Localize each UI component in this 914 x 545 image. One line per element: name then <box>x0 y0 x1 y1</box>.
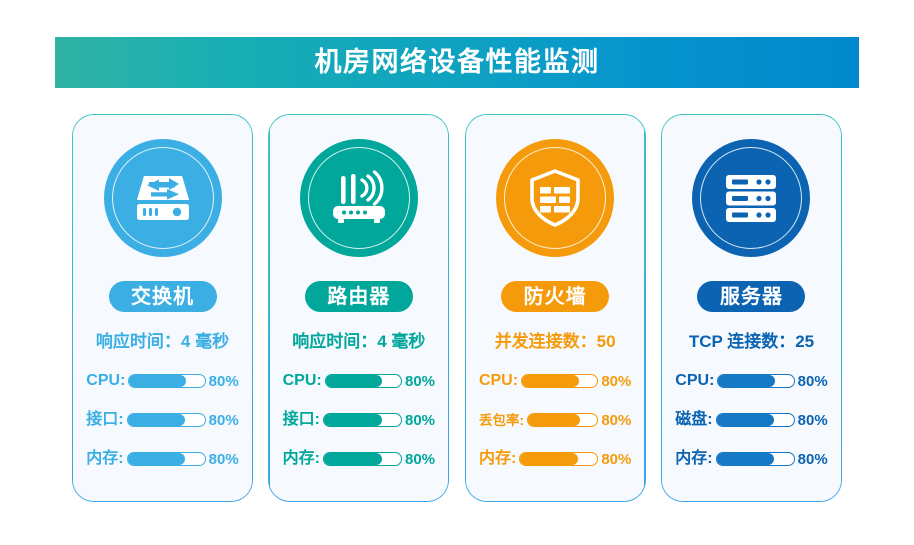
metric-label: 内存: <box>283 451 320 467</box>
metric-label: 接口: <box>283 412 320 428</box>
metric-row: 内存: 80% <box>86 448 238 470</box>
primary-stat: 响应时间：4 毫秒 <box>73 333 251 350</box>
metric-label: CPU: <box>283 373 322 389</box>
metric-progress-fill <box>128 453 186 465</box>
device-name-label: 路由器 <box>327 287 390 307</box>
metric-progress-bar <box>716 452 795 466</box>
metric-progress-fill <box>718 375 774 387</box>
metric-progress-bar <box>527 413 598 427</box>
metric-row: CPU: 80% <box>675 370 827 392</box>
metric-label: CPU: <box>675 373 714 389</box>
metric-progress-bar <box>716 413 795 427</box>
metric-label: CPU: <box>86 373 125 389</box>
metric-value: 80% <box>405 452 435 467</box>
metric-progress-fill <box>528 414 580 426</box>
metric-value: 80% <box>601 413 631 428</box>
metric-label: 接口: <box>86 412 123 428</box>
metric-value: 80% <box>209 374 239 389</box>
metric-progress-bar <box>323 452 402 466</box>
metric-value: 80% <box>798 413 828 428</box>
icon-badge <box>104 139 222 257</box>
device-card-list: 交换机 响应时间：4 毫秒 CPU: 80% 接口: 80% 内存 <box>72 114 842 502</box>
metric-row: 内存: 80% <box>479 448 631 470</box>
metric-progress-fill <box>326 375 382 387</box>
metric-row: 磁盘: 80% <box>675 409 827 431</box>
metric-row: 内存: 80% <box>283 448 435 470</box>
metric-row: CPU: 80% <box>86 370 238 392</box>
metric-progress-bar <box>521 374 598 388</box>
metric-progress-fill <box>324 414 382 426</box>
metric-list: CPU: 80% 丢包率: 80% 内存: 80% <box>479 370 631 470</box>
metric-label: 内存: <box>86 451 123 467</box>
metric-progress-fill <box>717 453 775 465</box>
device-name-label: 防火墙 <box>524 287 587 307</box>
metric-progress-bar <box>127 452 206 466</box>
metric-value: 80% <box>601 452 631 467</box>
metric-label: 内存: <box>479 451 516 467</box>
metric-value: 80% <box>601 374 631 389</box>
metric-list: CPU: 80% 磁盘: 80% 内存: 80% <box>675 370 827 470</box>
metric-row: CPU: 80% <box>479 370 631 392</box>
metric-progress-bar <box>717 374 794 388</box>
metric-progress-fill <box>129 375 185 387</box>
wifi-router-icon <box>327 166 391 230</box>
metric-value: 80% <box>405 413 435 428</box>
server-rack-icon <box>719 166 783 230</box>
shield-firewall-icon <box>523 166 587 230</box>
metric-progress-fill <box>324 453 382 465</box>
metric-label: 磁盘: <box>675 412 712 428</box>
metric-progress-bar <box>323 413 402 427</box>
metric-progress-bar <box>325 374 402 388</box>
infographic-canvas: 机房网络设备性能监测 <box>0 0 914 545</box>
metric-progress-bar <box>128 374 205 388</box>
device-card-server[interactable]: 服务器 TCP 连接数：25 CPU: 80% 磁盘: 80% 内 <box>661 114 842 502</box>
icon-badge <box>496 139 614 257</box>
metric-progress-bar <box>519 452 598 466</box>
metric-row: 内存: 80% <box>675 448 827 470</box>
metric-row: CPU: 80% <box>283 370 435 392</box>
device-name-label: 交换机 <box>131 287 194 307</box>
icon-badge <box>300 139 418 257</box>
device-card-firewall[interactable]: 防火墙 并发连接数：50 CPU: 80% 丢包率: 80% 内存 <box>465 114 646 502</box>
device-name-label: 服务器 <box>720 287 783 307</box>
device-card-switch[interactable]: 交换机 响应时间：4 毫秒 CPU: 80% 接口: 80% 内存 <box>72 114 253 502</box>
page-title: 机房网络设备性能监测 <box>315 49 600 76</box>
metric-value: 80% <box>405 374 435 389</box>
metric-label: CPU: <box>479 373 518 389</box>
device-name-pill: 路由器 <box>305 281 413 312</box>
icon-badge <box>692 139 810 257</box>
primary-stat: 并发连接数：50 <box>466 333 644 350</box>
metric-row: 接口: 80% <box>86 409 238 431</box>
device-name-pill: 服务器 <box>697 281 805 312</box>
metric-value: 80% <box>209 413 239 428</box>
device-name-pill: 交换机 <box>109 281 217 312</box>
metric-row: 接口: 80% <box>283 409 435 431</box>
metric-progress-fill <box>520 453 578 465</box>
metric-label: 丢包率: <box>479 414 524 428</box>
header-banner: 机房网络设备性能监测 <box>55 37 859 88</box>
metric-row: 丢包率: 80% <box>479 409 631 431</box>
primary-stat: TCP 连接数：25 <box>662 333 840 350</box>
metric-list: CPU: 80% 接口: 80% 内存: 80% <box>86 370 238 470</box>
metric-progress-fill <box>128 414 186 426</box>
metric-value: 80% <box>798 452 828 467</box>
network-switch-icon <box>131 166 195 230</box>
metric-progress-bar <box>127 413 206 427</box>
metric-label: 内存: <box>675 451 712 467</box>
primary-stat: 响应时间：4 毫秒 <box>270 333 448 350</box>
metric-progress-fill <box>522 375 578 387</box>
metric-list: CPU: 80% 接口: 80% 内存: 80% <box>283 370 435 470</box>
metric-progress-fill <box>717 414 775 426</box>
device-name-pill: 防火墙 <box>501 281 609 312</box>
device-card-router[interactable]: 路由器 响应时间：4 毫秒 CPU: 80% 接口: 80% 内存 <box>268 114 449 502</box>
metric-value: 80% <box>209 452 239 467</box>
metric-value: 80% <box>798 374 828 389</box>
